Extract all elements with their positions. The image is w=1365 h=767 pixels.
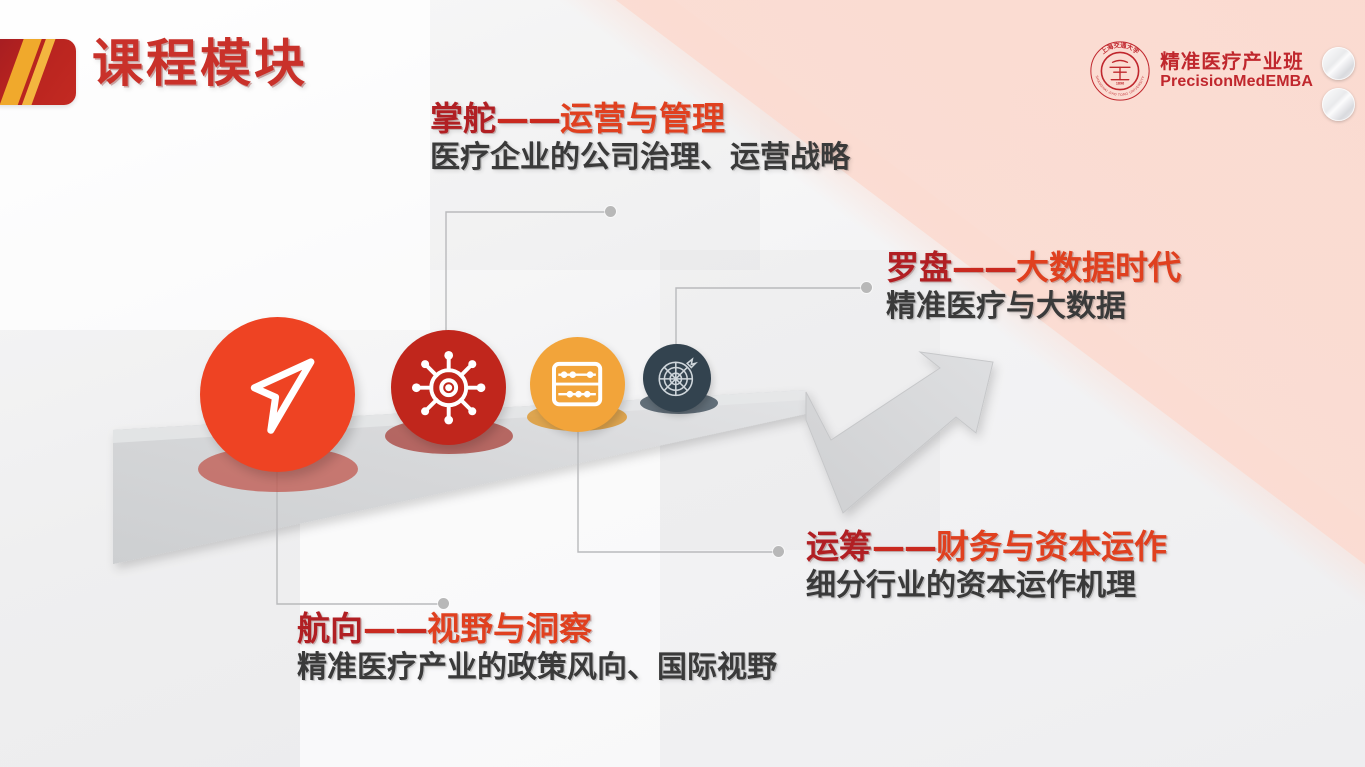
compass-icon [651, 352, 703, 404]
brand-name-en: PrecisionMedEMBA [1160, 73, 1313, 91]
callout-heading: 运筹——财务与资本运作 [806, 529, 1167, 566]
title-badge-icon [0, 39, 76, 105]
callout-subtitle: 医疗企业的公司治理、运营战略 [430, 140, 850, 176]
callout-hangxiang: 航向——视野与洞察 精准医疗产业的政策风向、国际视野 [297, 611, 777, 686]
callout-dash: —— [496, 99, 560, 138]
callout-zhangduo: 掌舵——运营与管理 医疗企业的公司治理、运营战略 [430, 101, 850, 176]
callout-tail: 视野与洞察 [427, 609, 592, 648]
connector-dot-hangxiang [438, 598, 449, 609]
callout-tail: 财务与资本运作 [936, 527, 1167, 566]
callout-heading: 航向——视野与洞察 [297, 611, 777, 648]
node-abacus[interactable] [530, 337, 625, 432]
callout-subtitle: 细分行业的资本运作机理 [806, 568, 1167, 604]
callout-keyword: 运筹 [806, 527, 872, 566]
page-title: 课程模块 [92, 39, 308, 90]
callout-tail: 大数据时代 [1016, 248, 1181, 287]
svg-text:上海交通大学: 上海交通大学 [1100, 41, 1141, 56]
node-compass[interactable] [643, 344, 711, 412]
bg-block [300, 430, 660, 767]
svg-text:1896: 1896 [1116, 82, 1124, 86]
callout-subtitle: 精准医疗产业的政策风向、国际视野 [297, 650, 777, 686]
connector-dot-yunchou [773, 546, 784, 557]
callout-keyword: 掌舵 [430, 99, 496, 138]
callout-keyword: 罗盘 [886, 248, 952, 287]
brand-logo: 上海交通大学 SHANGHAI JIAO TONG UNIVERSITY 189… [1089, 40, 1313, 102]
navigation-arrow-icon [219, 336, 337, 454]
connector-dot-luopan [861, 282, 872, 293]
callout-heading: 罗盘——大数据时代 [886, 250, 1181, 287]
node-helm[interactable] [391, 330, 506, 445]
callout-tail: 运营与管理 [560, 99, 725, 138]
callout-yunchou: 运筹——财务与资本运作 细分行业的资本运作机理 [806, 529, 1167, 604]
brand-name-cn: 精准医疗产业班 [1160, 51, 1313, 73]
callout-dash: —— [952, 248, 1016, 287]
slide-canvas: 课程模块 上海交通大学 SHANGHAI JIAO TONG UNIVERSIT… [0, 0, 1365, 767]
ship-wheel-icon [405, 344, 492, 431]
callout-subtitle: 精准医疗与大数据 [886, 289, 1181, 325]
callout-keyword: 航向 [297, 609, 363, 648]
callout-luopan: 罗盘——大数据时代 精准医疗与大数据 [886, 250, 1181, 325]
callout-heading: 掌舵——运营与管理 [430, 101, 850, 138]
sjtu-seal-icon: 上海交通大学 SHANGHAI JIAO TONG UNIVERSITY 189… [1089, 40, 1151, 102]
silver-circle-icon [1322, 88, 1355, 121]
connector-dot-zhangduo [605, 206, 616, 217]
node-navigation[interactable] [200, 317, 355, 472]
decorative-buttons [1322, 47, 1355, 129]
silver-circle-icon [1322, 47, 1355, 80]
callout-dash: —— [363, 609, 427, 648]
abacus-icon [541, 348, 613, 420]
callout-dash: —— [872, 527, 936, 566]
